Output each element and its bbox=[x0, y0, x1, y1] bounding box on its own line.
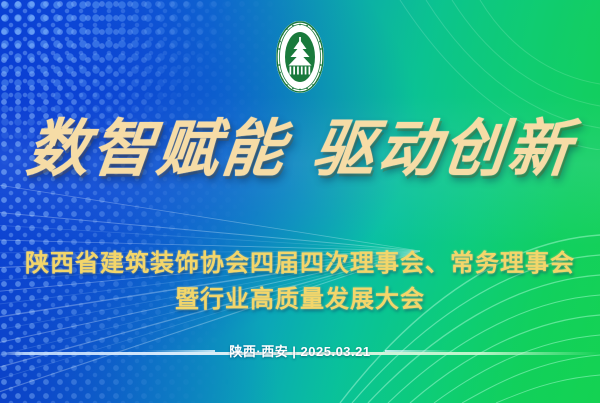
headline-part-2: 驱动创新 bbox=[309, 116, 576, 184]
poster-headline: 数智赋能驱动创新 bbox=[0, 119, 600, 181]
subtitle-line-1: 陕西省建筑装饰协会四届四次理事会、常务理事会 bbox=[0, 246, 600, 282]
subtitle-line-2: 暨行业高质量发展大会 bbox=[0, 282, 600, 318]
association-logo bbox=[274, 18, 326, 96]
poster-footer: 陕西·西安 | 2025.03.21 bbox=[0, 341, 600, 360]
poster-subtitle: 陕西省建筑装饰协会四届四次理事会、常务理事会 暨行业高质量发展大会 bbox=[0, 246, 600, 318]
event-poster: 数智赋能驱动创新 陕西省建筑装饰协会四届四次理事会、常务理事会 暨行业高质量发展… bbox=[0, 0, 600, 403]
headline-part-1: 数智赋能 bbox=[23, 116, 290, 184]
footer-location-date: 陕西·西安 | 2025.03.21 bbox=[229, 341, 370, 360]
footer-rule-left bbox=[143, 350, 215, 352]
footer-rule-right bbox=[385, 350, 457, 352]
